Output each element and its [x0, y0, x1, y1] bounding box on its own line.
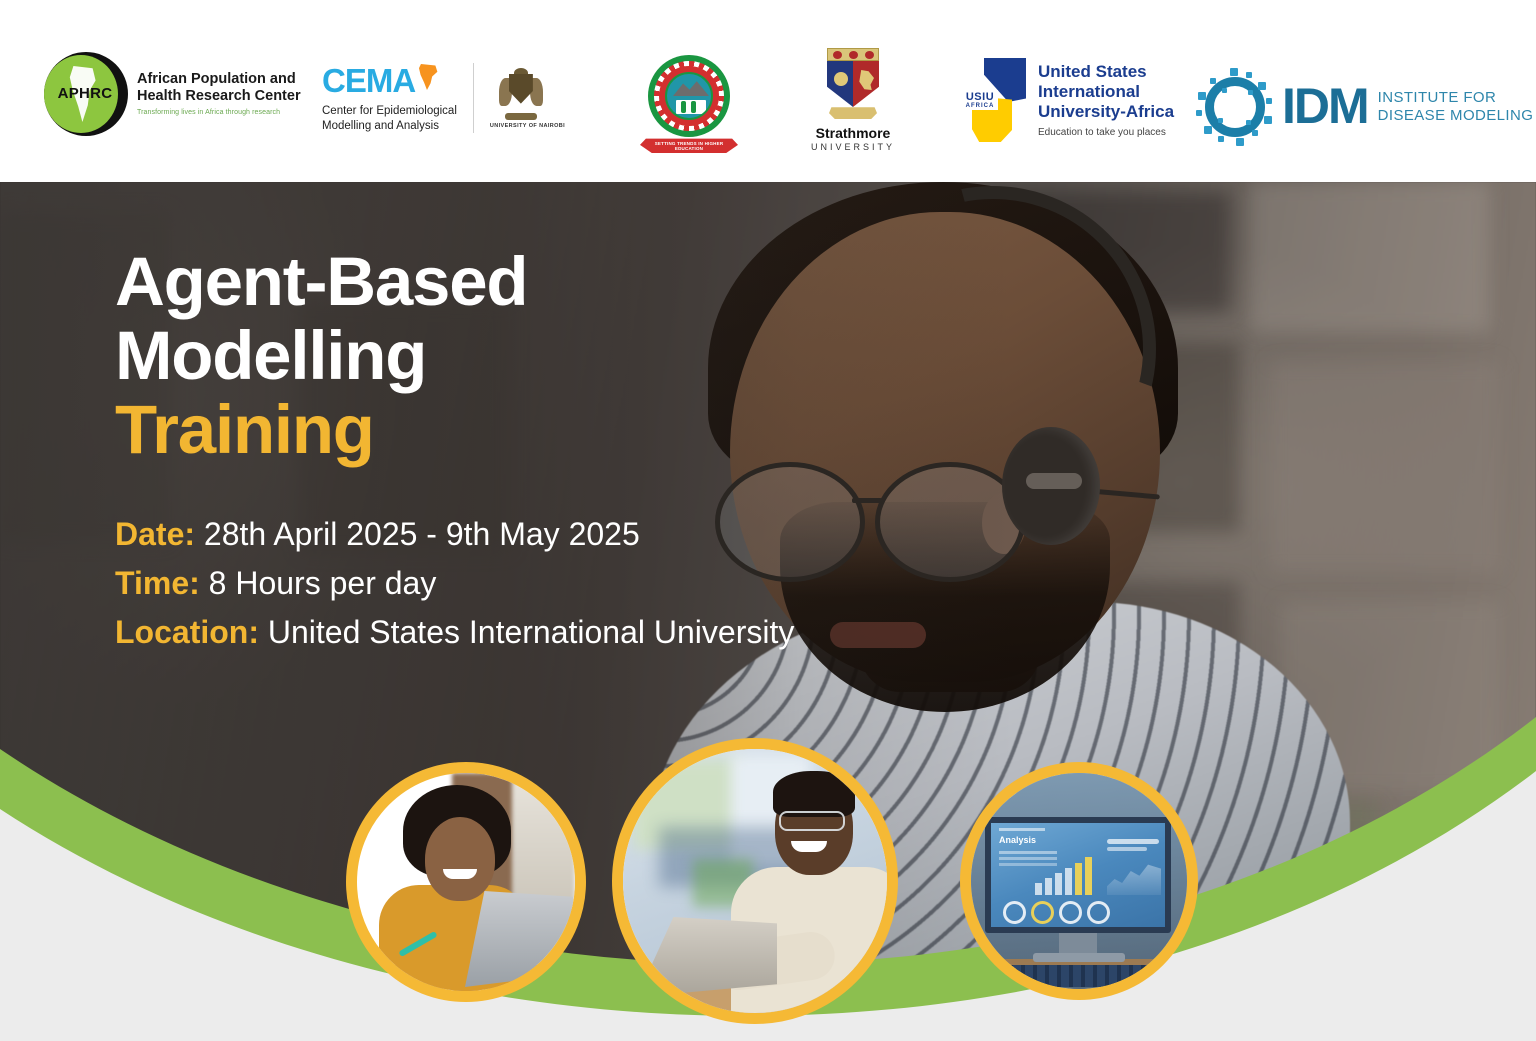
detail-value-date: 28th April 2025 - 9th May 2025: [204, 516, 640, 552]
idm-circular-dots-icon: [1196, 68, 1274, 146]
uon-name: UNIVERSITY OF NAIROBI: [490, 123, 552, 129]
photo-man-laptop: [623, 749, 887, 1013]
usiu-badge-line1: USIU: [962, 91, 998, 103]
hero-copy-block: Agent-Based Modelling Training Date: 28t…: [115, 245, 794, 656]
logo-university-of-nairobi: UNIVERSITY OF NAIROBI: [490, 68, 552, 129]
usiu-tagline: Education to take you places: [1038, 127, 1174, 139]
logo-usiu-africa: USIU AFRICA United States International …: [962, 58, 1174, 142]
page-title: Agent-Based Modelling Training: [115, 245, 794, 466]
idm-subtitle-line2: DISEASE MODELING: [1378, 107, 1534, 125]
partner-logo-bar: APHRC African Population and Health Rese…: [0, 0, 1536, 182]
cema-acronym: CEMA: [322, 62, 415, 100]
dashboard-screen-title: Analysis: [999, 835, 1036, 845]
usiu-name-line3: University-Africa: [1038, 102, 1174, 122]
jkuat-motto: SETTING TRENDS IN HIGHER EDUCATION: [640, 141, 738, 151]
detail-label-time: Time:: [115, 565, 200, 601]
logo-divider: [473, 63, 474, 133]
usiu-name-line1: United States: [1038, 62, 1174, 82]
africa-map-icon: [418, 64, 438, 90]
aphrc-name-line1: African Population and: [137, 71, 301, 88]
logo-aphrc: APHRC African Population and Health Rese…: [44, 52, 301, 136]
strathmore-subtitle: UNIVERSITY: [800, 142, 906, 152]
title-line-3: Training: [115, 393, 794, 467]
detail-value-time: 8 Hours per day: [209, 565, 437, 601]
aphrc-globe-icon: APHRC: [44, 52, 128, 136]
detail-row-date: Date: 28th April 2025 - 9th May 2025: [115, 510, 794, 559]
logo-jkuat: SETTING TRENDS IN HIGHER EDUCATION: [640, 55, 738, 155]
uon-crest-icon: [499, 68, 543, 120]
idm-acronym: IDM: [1282, 83, 1368, 131]
poster-root: APHRC African Population and Health Rese…: [0, 0, 1536, 1041]
logo-strathmore: Strathmore UNIVERSITY: [800, 48, 906, 152]
idm-subtitle-line1: INSTITUTE FOR: [1378, 89, 1534, 107]
usiu-badge-line2: AFRICA: [962, 103, 998, 109]
aphrc-tagline: Transforming lives in Africa through res…: [137, 109, 301, 117]
logo-cema: CEMA Center for Epidemiological Modellin…: [322, 62, 552, 134]
cema-subtitle-line2: Modelling and Analysis: [322, 119, 457, 134]
cema-subtitle-line1: Center for Epidemiological: [322, 104, 457, 119]
usiu-mark-icon: USIU AFRICA: [962, 58, 1028, 142]
usiu-name-line2: International: [1038, 82, 1174, 102]
strathmore-shield-icon: [823, 48, 883, 122]
photo-woman-laptop: [357, 773, 575, 991]
photo-analytics-monitor: Analysis: [971, 773, 1187, 989]
strathmore-name: Strathmore: [800, 125, 906, 141]
jkuat-emblem-icon: SETTING TRENDS IN HIGHER EDUCATION: [640, 55, 738, 155]
logo-idm: IDM INSTITUTE FOR DISEASE MODELING: [1196, 68, 1533, 146]
detail-label-date: Date:: [115, 516, 195, 552]
aphrc-acronym: APHRC: [50, 85, 120, 102]
title-line-2: Modelling: [115, 319, 794, 393]
detail-row-time: Time: 8 Hours per day: [115, 559, 794, 608]
aphrc-name-line2: Health Research Center: [137, 88, 301, 105]
title-line-1: Agent-Based: [115, 245, 794, 319]
